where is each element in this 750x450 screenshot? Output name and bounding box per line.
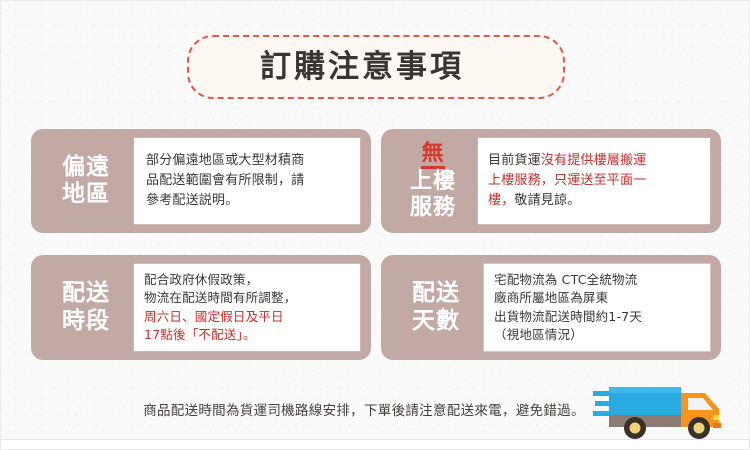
panel-remote-area: 偏遠 地區 部分偏遠地區或大型材積商 品配送範圍會有所限制，請 參考配送説明。: [31, 129, 371, 233]
panel-text-line: 目前貨運沒有提供樓層搬運: [488, 151, 702, 171]
panel-text-line: 樓，敬請見諒。: [488, 191, 702, 211]
panel-body-no-upstairs-service: 目前貨運沒有提供樓層搬運 上樓服務，只運送至平面一 樓，敬請見諒。: [477, 137, 711, 225]
title-dashed-box: 訂購注意事項: [187, 35, 565, 99]
notice-panels: 偏遠 地區 部分偏遠地區或大型材積商 品配送範圍會有所限制，請 參考配送説明。 …: [31, 129, 721, 360]
panel-body-delivery-time-slot: 配合政府休假政策， 物流在配送時間有所調整， 周六日、國定假日及平日 17點後「…: [133, 263, 361, 352]
panel-text-line: 部分偏遠地區或大型材積商: [146, 151, 352, 171]
panel-text-segment: 敬請見諒。: [514, 193, 580, 208]
footer-text: 商品配送時間為貨運司機路線安排，下單後請注意配送來電，避免錯過。: [143, 399, 585, 419]
panel-body-delivery-days: 宅配物流為 CTC全統物流 廠商所屬地區為屏東 出貨物流配送時間約1-7天 （視…: [483, 263, 711, 352]
panel-label-delivery-days: 配送 天數: [389, 280, 483, 334]
order-notice-banner: 訂購注意事項 偏遠 地區 部分偏遠地區或大型材積商 品配送範圍會有所限制，請 參…: [0, 0, 750, 450]
panel-label-remote-area: 偏遠 地區: [39, 154, 133, 208]
panel-text-line: 物流在配送時間有所調整，: [144, 289, 352, 307]
panel-label-line: 天數: [393, 308, 479, 335]
panel-delivery-time-slot: 配送 時段 配合政府休假政策， 物流在配送時間有所調整， 周六日、國定假日及平日…: [31, 255, 371, 360]
panel-text-segment-red: 上樓服務，只運送至平面一: [488, 173, 646, 188]
panel-text-line: 出貨物流配送時間約1-7天: [494, 308, 702, 326]
page-bottom-edge: [1, 439, 749, 449]
panel-text-segment-red: 沒有提供樓層搬運: [541, 153, 647, 168]
panel-text-line-red: 17點後「不配送」。: [144, 326, 352, 344]
page-title: 訂購注意事項: [260, 52, 492, 83]
panel-text-line-red: 周六日、國定假日及平日: [144, 308, 352, 326]
panel-label-delivery-time-slot: 配送 時段: [39, 280, 133, 334]
panel-body-remote-area: 部分偏遠地區或大型材積商 品配送範圍會有所限制，請 參考配送説明。: [133, 137, 361, 225]
panel-no-upstairs-service: 無 上樓 服務 目前貨運沒有提供樓層搬運 上樓服務，只運送至平面一 樓，敬請見諒…: [381, 129, 721, 233]
panel-text-line: 品配送範圍會有所限制，請: [146, 171, 352, 191]
panel-label-line: 上樓: [393, 169, 473, 195]
panel-text-line: 宅配物流為 CTC全統物流: [494, 271, 702, 289]
panel-text-line: 參考配送説明。: [146, 191, 352, 211]
panel-label-red-text: 無: [421, 142, 444, 169]
panel-label-line: 服務: [393, 195, 473, 221]
panel-label-line-highlight: 無: [393, 141, 473, 169]
delivery-truck-icon: [593, 385, 743, 441]
panel-label-line: 配送: [43, 280, 129, 307]
title-block: 訂購注意事項: [187, 35, 565, 99]
panel-label-line: 偏遠: [43, 154, 129, 181]
panel-label-line: 時段: [43, 308, 129, 335]
panel-text-segment-red: 樓，: [488, 193, 514, 208]
panel-text-segment: 目前貨運: [488, 153, 541, 168]
panel-text-line: （視地區情況）: [494, 326, 702, 344]
panel-text-line: 上樓服務，只運送至平面一: [488, 171, 702, 191]
panel-label-no-upstairs-service: 無 上樓 服務: [389, 141, 477, 221]
panel-label-line: 地區: [43, 181, 129, 208]
panel-label-line: 配送: [393, 280, 479, 307]
panel-delivery-days: 配送 天數 宅配物流為 CTC全統物流 廠商所屬地區為屏東 出貨物流配送時間約1…: [381, 255, 721, 360]
panel-text-line: 配合政府休假政策，: [144, 271, 352, 289]
panel-text-line: 廠商所屬地區為屏東: [494, 289, 702, 307]
